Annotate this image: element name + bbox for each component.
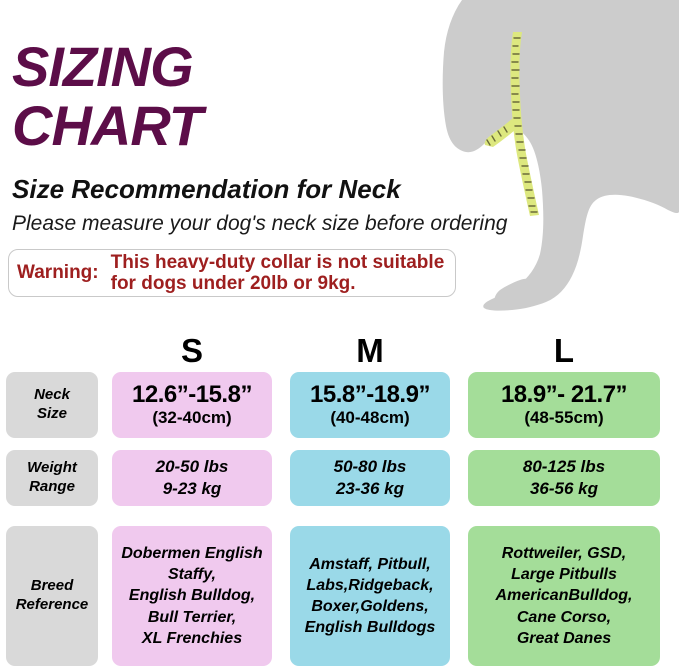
breed-line: Great Danes: [517, 628, 611, 649]
breed-line: Labs,Ridgeback,: [306, 575, 433, 596]
page-title: SIZING CHART: [12, 38, 432, 156]
measuring-tape-band: [510, 32, 539, 216]
breed-reference-cell-l: Rottweiler, GSD, Large Pitbulls American…: [468, 526, 660, 666]
breed-line: Bull Terrier,: [148, 607, 236, 628]
subtitle: Size Recommendation for Neck: [12, 174, 401, 205]
weight-range-cell-s: 20-50 lbs 9-23 kg: [112, 450, 272, 506]
breed-line: XL Frenchies: [142, 628, 242, 649]
row-label-breed-reference: Breed Reference: [6, 526, 98, 666]
weight-range-lbs-m: 50-80 lbs: [334, 456, 407, 478]
warning-text-line1: This heavy-duty collar is not suitable: [111, 252, 445, 273]
neck-size-inches-l: 18.9”- 21.7”: [501, 382, 627, 408]
sizing-chart-page: SIZING CHART Size Recommendation for Nec…: [0, 0, 679, 672]
weight-range-kg-s: 9-23 kg: [163, 478, 222, 500]
measuring-tape-end: [485, 118, 515, 147]
row-label-neck-size: Neck Size: [6, 372, 98, 438]
title-line-sizing: SIZING: [12, 38, 432, 97]
warning-text-line2: for dogs under 20lb or 9kg.: [111, 273, 445, 294]
neck-size-cell-s: 12.6”-15.8” (32-40cm): [112, 372, 272, 438]
neck-size-cm-s: (32-40cm): [152, 408, 231, 428]
measuring-tape-ticks: [487, 38, 537, 212]
neck-size-inches-m: 15.8”-18.9”: [310, 382, 430, 408]
breed-line: Boxer,Goldens,: [311, 596, 428, 617]
row-label-neck-size-line2: Size: [37, 405, 67, 424]
dog-silhouette: [443, 0, 679, 311]
breed-line: English Bulldogs: [305, 617, 436, 638]
breed-line: Staffy,: [168, 564, 216, 585]
neck-size-cell-l: 18.9”- 21.7” (48-55cm): [468, 372, 660, 438]
breed-reference-cell-s: Dobermen English Staffy, English Bulldog…: [112, 526, 272, 666]
title-line-chart: CHART: [12, 97, 432, 156]
size-header-l: L: [468, 332, 660, 370]
row-label-weight-range: Weight Range: [6, 450, 98, 506]
dog-leg-shading: [494, 279, 539, 308]
row-label-weight-range-line1: Weight: [27, 459, 77, 478]
weight-range-lbs-s: 20-50 lbs: [156, 456, 229, 478]
breed-line: English Bulldog,: [129, 585, 255, 606]
warning-text: This heavy-duty collar is not suitable f…: [111, 252, 445, 295]
weight-range-cell-m: 50-80 lbs 23-36 kg: [290, 450, 450, 506]
row-label-weight-range-line2: Range: [29, 478, 75, 497]
breed-line: Large Pitbulls: [511, 564, 617, 585]
weight-range-lbs-l: 80-125 lbs: [523, 456, 605, 478]
neck-size-cm-l: (48-55cm): [524, 408, 603, 428]
breed-line: Dobermen English: [121, 543, 262, 564]
weight-range-kg-m: 23-36 kg: [336, 478, 404, 500]
breed-line: AmericanBulldog,: [496, 585, 633, 606]
neck-size-cm-m: (40-48cm): [330, 408, 409, 428]
weight-range-cell-l: 80-125 lbs 36-56 kg: [468, 450, 660, 506]
weight-range-kg-l: 36-56 kg: [530, 478, 598, 500]
size-header-m: M: [290, 332, 450, 370]
breed-line: Amstaff, Pitbull,: [309, 554, 431, 575]
warning-box: Warning: This heavy-duty collar is not s…: [8, 249, 456, 297]
row-label-breed-reference-line2: Reference: [16, 596, 89, 615]
breed-line: Rottweiler, GSD,: [502, 543, 626, 564]
row-label-breed-reference-line1: Breed: [31, 577, 74, 596]
size-header-s: S: [112, 332, 272, 370]
row-label-neck-size-line1: Neck: [34, 386, 70, 405]
neck-size-cell-m: 15.8”-18.9” (40-48cm): [290, 372, 450, 438]
measure-note: Please measure your dog's neck size befo…: [12, 212, 507, 236]
measuring-tape: [485, 32, 539, 216]
breed-reference-cell-m: Amstaff, Pitbull, Labs,Ridgeback, Boxer,…: [290, 526, 450, 666]
neck-size-inches-s: 12.6”-15.8”: [132, 382, 252, 408]
breed-line: Cane Corso,: [517, 607, 611, 628]
warning-label: Warning:: [17, 262, 99, 284]
